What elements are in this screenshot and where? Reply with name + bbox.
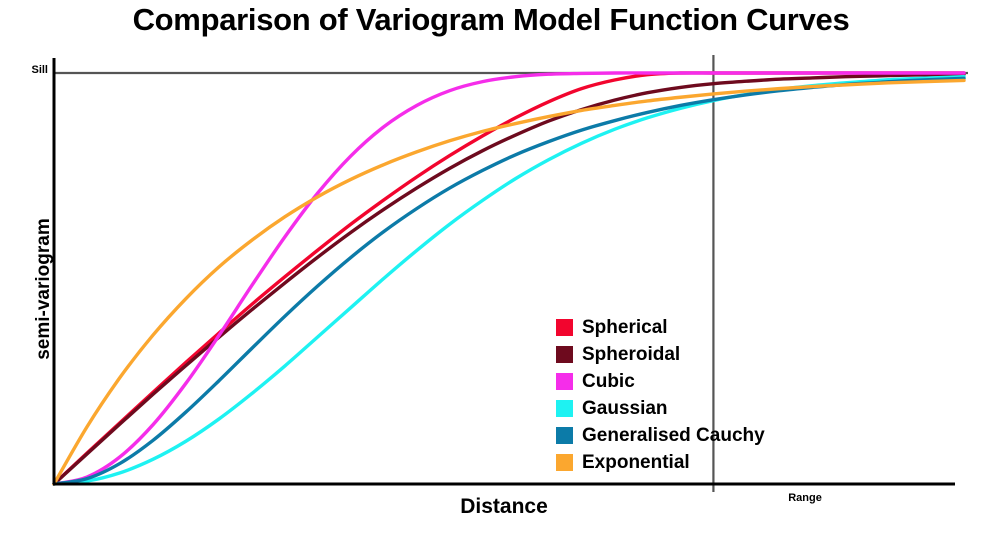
curve-cubic xyxy=(54,73,964,484)
legend-item-gaussian[interactable]: Gaussian xyxy=(556,395,765,422)
legend-item-label: Exponential xyxy=(582,453,690,472)
curve-spheroidal xyxy=(54,74,964,484)
legend-swatch-icon xyxy=(556,400,573,417)
legend: SphericalSpheroidalCubicGaussianGenerali… xyxy=(556,314,765,476)
legend-item-label: Gaussian xyxy=(582,399,668,418)
legend-item-label: Spheroidal xyxy=(582,345,680,364)
legend-item-cubic[interactable]: Cubic xyxy=(556,368,765,395)
chart-figure: Comparison of Variogram Model Function C… xyxy=(0,0,982,537)
curve-group xyxy=(54,73,964,484)
legend-item-spheroidal[interactable]: Spheroidal xyxy=(556,341,765,368)
legend-item-label: Cubic xyxy=(582,372,635,391)
legend-item-exponential[interactable]: Exponential xyxy=(556,449,765,476)
curve-spherical xyxy=(54,73,964,484)
curve-exponential xyxy=(54,80,964,484)
legend-item-spherical[interactable]: Spherical xyxy=(556,314,765,341)
legend-swatch-icon xyxy=(556,373,573,390)
legend-item-label: Spherical xyxy=(582,318,668,337)
legend-swatch-icon xyxy=(556,427,573,444)
legend-swatch-icon xyxy=(556,454,573,471)
axis-group xyxy=(53,58,955,484)
legend-item-generalised-cauchy[interactable]: Generalised Cauchy xyxy=(556,422,765,449)
legend-swatch-icon xyxy=(556,346,573,363)
legend-item-label: Generalised Cauchy xyxy=(582,426,765,445)
plot-area xyxy=(0,0,982,537)
legend-swatch-icon xyxy=(556,319,573,336)
